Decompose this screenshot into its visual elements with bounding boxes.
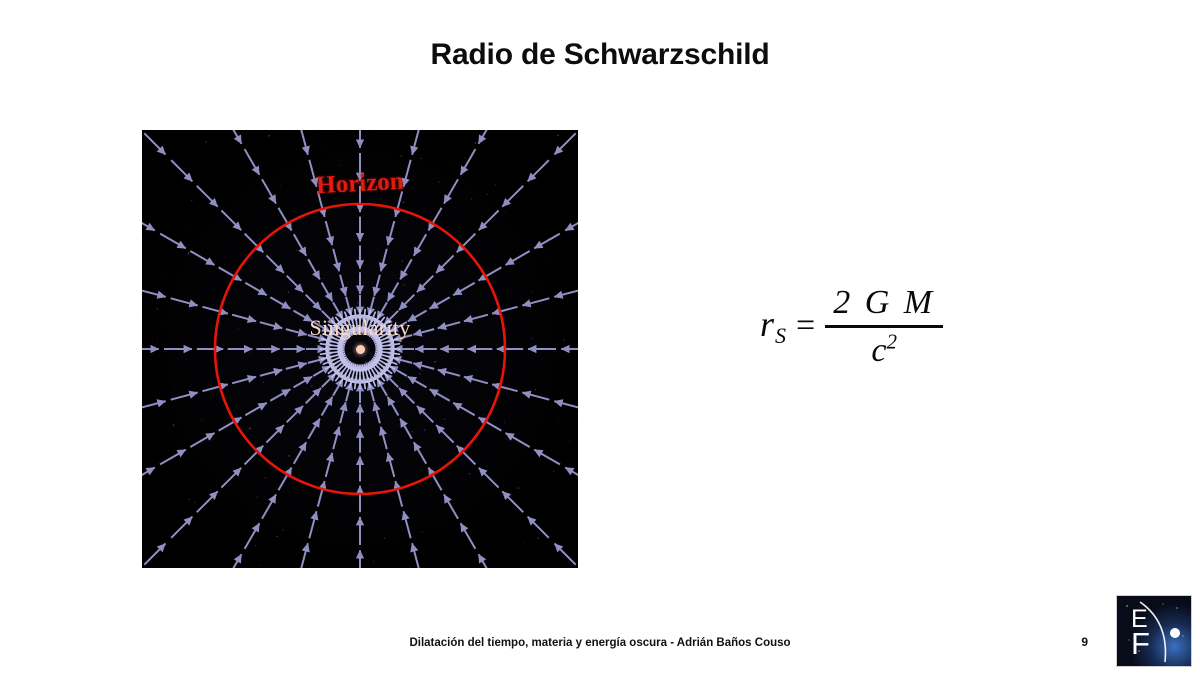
formula-fraction: 2 G M c2: [825, 286, 943, 368]
page-title: Radio de Schwarzschild: [0, 38, 1200, 72]
formula-numerator: 2 G M: [825, 286, 943, 325]
singularity-label: Singularity: [309, 315, 410, 341]
formula-c-symbol: c: [871, 332, 886, 369]
slide-canvas: Radio de Schwarzschild Horizon Si: [0, 0, 1200, 675]
formula-lhs: rS: [760, 306, 786, 347]
formula-denominator: c2: [863, 328, 905, 368]
footer-caption: Dilatación del tiempo, materia y energía…: [0, 637, 1200, 649]
ef-logo: E F: [1116, 595, 1192, 667]
logo-background: [1117, 596, 1191, 666]
schwarzschild-figure: Horizon Singularity: [142, 130, 578, 568]
formula-r-symbol: r: [760, 304, 774, 344]
schwarzschild-radius-formula: rS = 2 G M c2: [760, 286, 990, 368]
ef-logo-svg: E F: [1117, 596, 1191, 666]
page-number: 9: [1081, 635, 1088, 649]
singularity-point: [356, 345, 365, 354]
formula-s-subscript: S: [775, 323, 786, 348]
logo-planet-dot: [1170, 628, 1180, 638]
logo-letter-f: F: [1131, 626, 1150, 661]
formula-exponent: 2: [886, 329, 897, 353]
horizon-label: Horizon: [316, 168, 405, 201]
formula-equals-sign: =: [796, 309, 815, 345]
